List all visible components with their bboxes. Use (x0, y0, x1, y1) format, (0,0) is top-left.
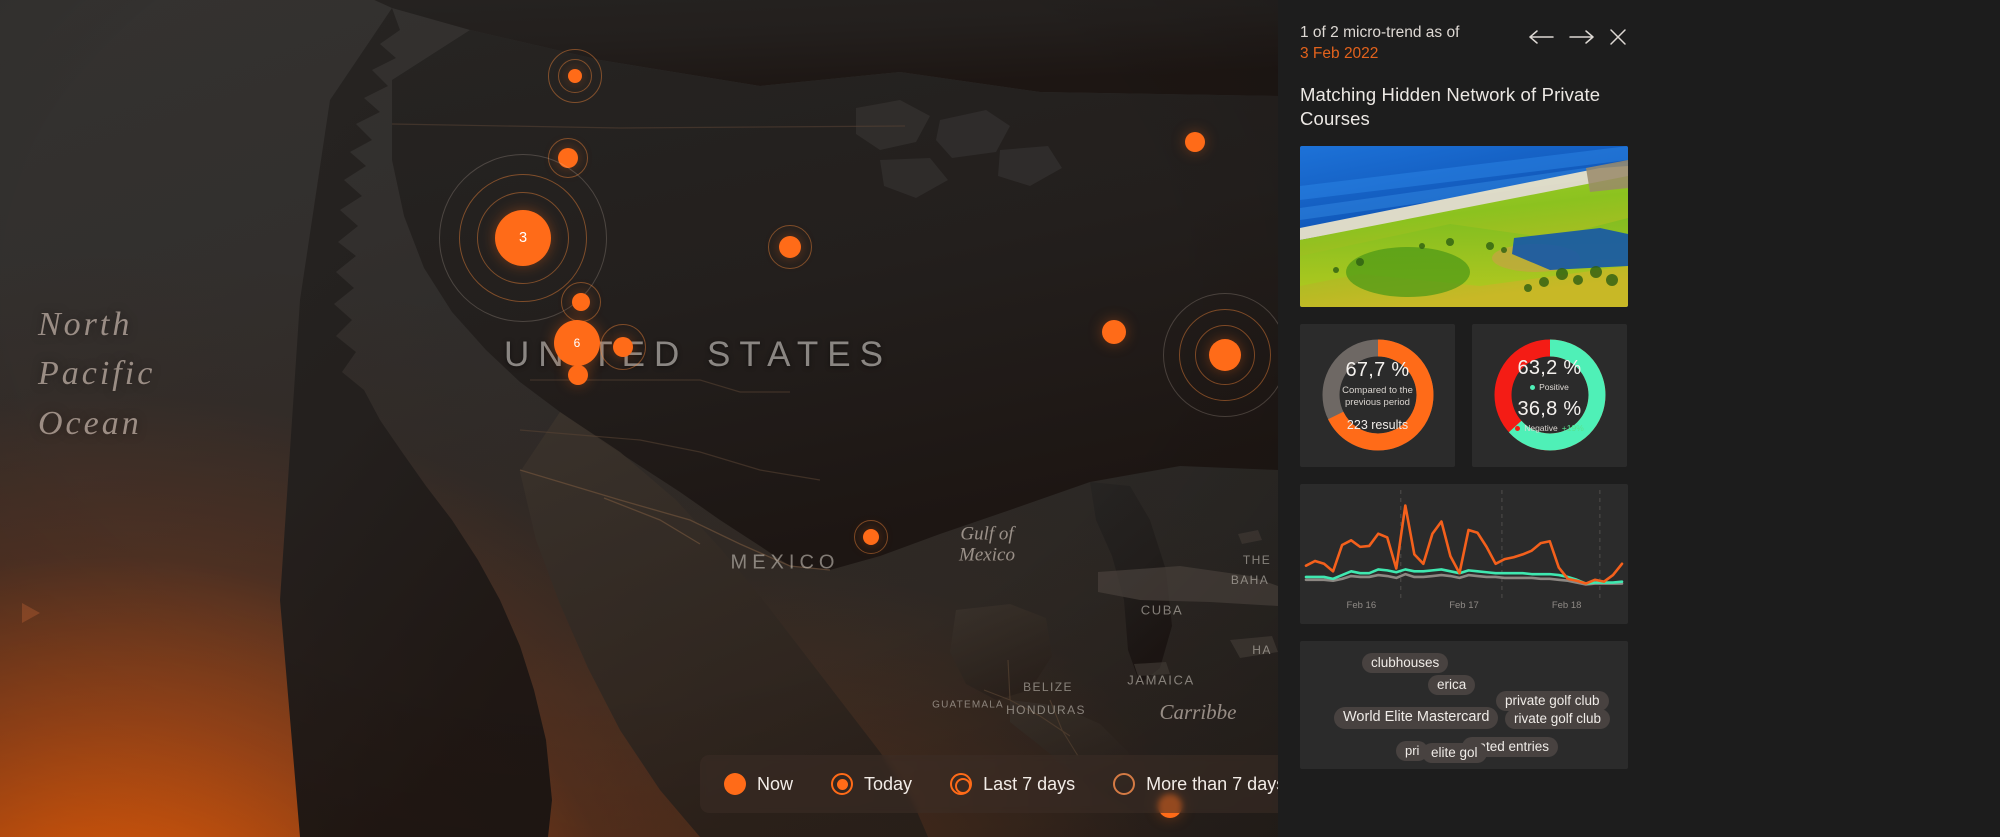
marker-dot (1185, 132, 1205, 152)
positive-dot-icon (1530, 385, 1535, 390)
map-marker[interactable] (852, 518, 890, 556)
keyword-tag[interactable]: elite gol (1422, 743, 1487, 764)
legend-item-now[interactable]: Now (724, 773, 793, 795)
map-marker[interactable] (546, 47, 604, 105)
compare-results: 223 results (1347, 418, 1408, 432)
detail-panel: 1 of 2 micro-trend as of 3 Feb 2022 (1278, 0, 1650, 837)
sentiment-delta: +19% (1562, 423, 1584, 433)
trend-dashboard: North Pacific Ocean UNITED STATES MEXICO… (0, 0, 2000, 837)
trend-thumbnail[interactable] (1300, 146, 1628, 307)
negative-dot-icon (1515, 426, 1520, 431)
timeseries-chart (1300, 490, 1628, 598)
marker-dot (779, 236, 801, 258)
compare-percent: 67,7 % (1345, 359, 1409, 382)
trend-headline: Matching Hidden Network of Private Cours… (1300, 83, 1628, 131)
compare-caption: Compared to theprevious period (1342, 385, 1413, 409)
map-marker[interactable] (766, 223, 814, 271)
map-vignette (0, 0, 1278, 837)
marker-dot (613, 337, 633, 357)
chart-x-axis: Feb 16Feb 17Feb 18 (1300, 600, 1628, 611)
legend-item-today[interactable]: Today (831, 773, 912, 795)
map-canvas[interactable]: North Pacific Ocean UNITED STATES MEXICO… (0, 0, 1278, 837)
positive-percent: 63,2 % (1517, 357, 1581, 380)
close-icon[interactable] (1608, 27, 1628, 47)
marker-dot (1209, 339, 1241, 371)
negative-percent: 36,8 % (1517, 398, 1581, 421)
marker-count: 6 (554, 320, 600, 366)
legend-label: Now (757, 774, 793, 795)
legend-label: More than 7 days ago (1146, 774, 1290, 795)
panel-meta: 1 of 2 micro-trend as of 3 Feb 2022 (1300, 22, 1459, 64)
arrow-right-icon[interactable] (1568, 28, 1595, 46)
timeseries-chart-card[interactable]: Feb 16Feb 17Feb 18 (1300, 484, 1628, 624)
legend-label: Today (864, 774, 912, 795)
keyword-tag[interactable]: rivate golf club (1505, 709, 1610, 730)
marker-count: 3 (495, 210, 551, 266)
compare-donut: 67,7 % Compared to theprevious period 22… (1317, 334, 1439, 456)
marker-dot (568, 69, 582, 83)
time-legend[interactable]: NowTodayLast 7 daysMore than 7 days ago (700, 755, 1290, 813)
positive-legend: Positive (1530, 382, 1569, 392)
negative-label: Negative (1524, 423, 1558, 433)
trend-counter: 1 of 2 micro-trend as of (1300, 24, 1459, 41)
marker-dot (568, 365, 588, 385)
sentiment-donut: 63,2 % Positive 36,8 % Negative +19% (1489, 334, 1611, 456)
map-marker[interactable] (1183, 130, 1207, 154)
keyword-tag[interactable]: clubhouses (1362, 653, 1448, 674)
map-marker[interactable] (1161, 291, 1278, 419)
marker-dot (863, 529, 879, 545)
hollow-ring-icon (1113, 773, 1135, 795)
marker-dot (572, 293, 590, 311)
panel-header: 1 of 2 micro-trend as of 3 Feb 2022 (1300, 22, 1628, 64)
legend-item-more-than-7-days-ago[interactable]: More than 7 days ago (1113, 773, 1290, 795)
chart-x-tick: Feb 17 (1449, 600, 1479, 611)
compare-donut-card[interactable]: 67,7 % Compared to theprevious period 22… (1300, 324, 1455, 467)
legend-item-last-7-days[interactable]: Last 7 days (950, 773, 1075, 795)
trend-date: 3 Feb 2022 (1300, 45, 1378, 62)
keyword-tag[interactable]: World Elite Mastercard (1334, 707, 1498, 729)
sentiment-donut-card[interactable]: 63,2 % Positive 36,8 % Negative +19% (1472, 324, 1627, 467)
chart-x-tick: Feb 18 (1552, 600, 1582, 611)
chart-x-tick: Feb 16 (1347, 600, 1377, 611)
filled-dot-icon (724, 773, 746, 795)
map-play-glyph-icon (18, 600, 44, 626)
map-marker[interactable] (1100, 318, 1128, 346)
keyword-cloud-card[interactable]: clubhousesericaprivate golf clubWorld El… (1300, 641, 1628, 769)
positive-label: Positive (1539, 382, 1569, 392)
legend-label: Last 7 days (983, 774, 1075, 795)
arrow-left-icon[interactable] (1528, 28, 1555, 46)
metric-cards-row: 67,7 % Compared to theprevious period 22… (1300, 324, 1628, 467)
marker-dot (1102, 320, 1126, 344)
keyword-tag[interactable]: erica (1428, 675, 1475, 696)
double-ring-icon (950, 773, 972, 795)
ring-dot-icon (831, 773, 853, 795)
map-marker[interactable]: 6 (552, 318, 602, 368)
panel-nav[interactable] (1528, 22, 1628, 47)
map-marker[interactable] (598, 322, 648, 372)
negative-legend: Negative +19% (1515, 423, 1584, 433)
